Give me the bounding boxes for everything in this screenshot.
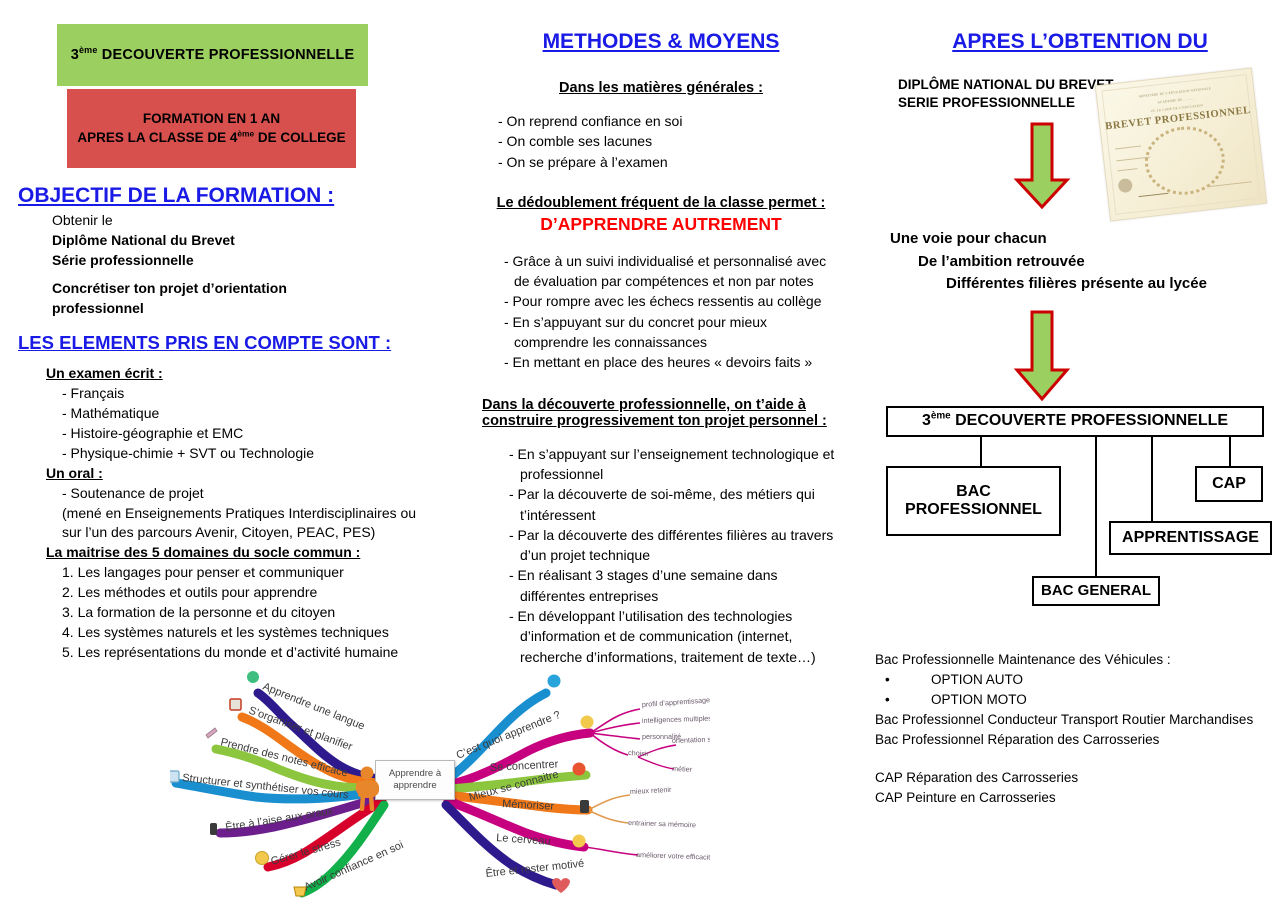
trophy-icon [294, 887, 306, 896]
notebook-icon [170, 771, 179, 782]
lightbulb-icon [573, 835, 586, 848]
mm-sub-profil [590, 709, 640, 733]
list-item-cont: de évaluation par compétences et non par… [494, 271, 846, 291]
heading-apprendre-autrement: D’APPRENDRE AUTREMENT [476, 214, 846, 235]
mm-sub-label: profil d’apprentissage [642, 695, 710, 709]
objectif-line-3: Série professionnelle [52, 251, 458, 271]
heart-icon [552, 878, 570, 893]
list-item: Bac Professionnel Conducteur Transport R… [875, 710, 1280, 730]
list-item: - En développant l’utilisation des techn… [498, 606, 846, 626]
banner-3eme-decouverte-professionnelle: 3ème DECOUVERTE PROFESSIONNELLE [57, 24, 368, 86]
objectif-line-1: Obtenir le [52, 211, 458, 231]
list-item: - En réalisant 3 stages d’une semaine da… [498, 565, 846, 585]
mm-sub-entrainer [588, 810, 628, 823]
bullet-label: OPTION MOTO [931, 692, 1027, 707]
org-node-bac-pro-label: BAC PROFESSIONNEL [905, 483, 1042, 519]
heading-methodes-moyens: METHODES & MOYENS [476, 30, 846, 54]
formations-list: Bac Professionnelle Maintenance des Véhi… [875, 650, 1280, 808]
org-node-bac-professionnel: BAC PROFESSIONNEL [886, 466, 1061, 536]
subheading-line-2: construire progressivement ton projet pe… [482, 413, 846, 429]
mm-sub-metier [638, 757, 674, 769]
list-item: - On reprend confiance en soi [498, 111, 846, 131]
battery-icon [580, 800, 589, 813]
list-item: 1. Les langages pour penser et communiqu… [62, 563, 458, 583]
list-item: - En s’appuyant sur l’enseignement techn… [498, 444, 846, 464]
list-item: CAP Peinture en Carrosseries [875, 788, 1280, 808]
list-item-bullet: •OPTION AUTO [875, 670, 1280, 690]
list-item: CAP Réparation des Carrosseries [875, 768, 1280, 788]
org-node-bac-general-label: BAC GENERAL [1041, 583, 1151, 600]
mindmap-center-node: Apprendre à apprendre [375, 760, 455, 800]
banner-formation-en-1-an: FORMATION EN 1 AN APRES LA CLASSE DE 4èm… [67, 89, 356, 168]
mindmap-center-text: Apprendre à apprendre [389, 768, 441, 792]
column-objectives: 3ème DECOUVERTE PROFESSIONNELLE FORMATIO… [18, 24, 458, 663]
column-methods: METHODES & MOYENS Dans les matières géné… [476, 30, 846, 667]
people-icon [581, 716, 594, 729]
heading-elements-pris-en-compte: LES ELEMENTS PRIS EN COMPTE SONT : [18, 332, 458, 354]
mindmap-apprendre-a-apprendre: Apprendre une langue S’organiser et plan… [170, 655, 710, 905]
org-node-3eme-decouverte: 3ème DECOUVERTE PROFESSIONNELLE [886, 406, 1264, 437]
list-item: - Physique-chimie + SVT ou Technologie [62, 444, 458, 464]
question-icon [548, 675, 561, 688]
subheading-dedoublement: Le dédoublement fréquent de la classe pe… [476, 195, 846, 211]
subheading-examen-ecrit: Un examen écrit : [46, 364, 458, 384]
objectif-line-2: Diplôme National du Brevet [52, 231, 458, 251]
mm-label: Gérer le stress [270, 836, 343, 868]
list-item: Bac Professionnel Réparation des Carross… [875, 730, 1280, 750]
subheading-line-1: Dans la découverte professionnelle, on t… [482, 397, 846, 413]
list-item: - Histoire-géographie et EMC [62, 424, 458, 444]
mm-sub-label: choisir [628, 748, 650, 758]
list-item: - Soutenance de projet [62, 484, 458, 504]
microphone-icon [210, 823, 217, 835]
down-arrow-2-icon [1013, 310, 1071, 402]
list-item: sur l’un des parcours Avenir, Citoyen, P… [62, 523, 458, 543]
down-arrow-1-icon [1013, 122, 1071, 210]
objectif-line-4: Concrétiser ton projet d’orientation [52, 279, 458, 299]
list-item: - Français [62, 384, 458, 404]
mm-sub-label: métier [672, 764, 693, 774]
column-after-diploma: APRES L’OBTENTION DU MINISTERE DE L'EDUC… [880, 30, 1280, 808]
mm-sub-label: entrainer sa mémoire [628, 818, 696, 829]
list-item: - On comble ses lacunes [498, 131, 846, 151]
org-connector [1151, 437, 1153, 521]
list-item: - En mettant en place des heures « devoi… [494, 352, 846, 372]
list-item-cont: t’intéressent [498, 505, 846, 525]
bullet-icon: • [885, 690, 931, 710]
heading-apres-obtention: APRES L’OBTENTION DU [880, 30, 1280, 54]
calendar-icon [230, 699, 241, 710]
list-item-cont: différentes entreprises [498, 586, 846, 606]
org-node-apprentissage: APPRENTISSAGE [1109, 521, 1272, 555]
list-item: 4. Les systèmes naturels et les systèmes… [62, 623, 458, 643]
mm-label: Mémoriser [502, 798, 555, 813]
list-item: - Mathématique [62, 404, 458, 424]
mm-sub-label: améliorer votre efficacité [636, 850, 710, 862]
org-node-root-label: 3ème DECOUVERTE PROFESSIONNELLE [922, 412, 1228, 430]
org-connector [1095, 437, 1097, 597]
list-item: - Par la découverte des différentes fili… [498, 525, 846, 545]
slogan-line-3: Différentes filières présente au lycée [946, 273, 1280, 296]
banner-green-text: 3ème DECOUVERTE PROFESSIONNELLE [71, 47, 355, 63]
mindmap-center-line-1: Apprendre à [389, 768, 441, 779]
mm-sub-label: orientation scolaire [672, 734, 710, 745]
orientation-org-chart: 3ème DECOUVERTE PROFESSIONNELLE BAC PROF… [880, 406, 1280, 606]
org-node-cap-label: CAP [1212, 475, 1246, 493]
spacer [18, 271, 458, 279]
list-matieres-generales: - On reprend confiance en soi - On combl… [498, 111, 846, 172]
globe-icon [247, 671, 259, 683]
list-item: - Grâce à un suivi individualisé et pers… [494, 251, 846, 271]
elements-block: Un examen écrit : - Français - Mathémati… [18, 364, 458, 662]
down-arrow-2-wrapper [1013, 310, 1280, 402]
list-apprendre-autrement: - Grâce à un suivi individualisé et pers… [494, 251, 846, 373]
subheading-un-oral: Un oral : [46, 464, 458, 484]
banner-red-line1: FORMATION EN 1 AN [143, 110, 280, 128]
list-item: (mené en Enseignements Pratiques Interdi… [62, 504, 458, 524]
exclamation-icon [573, 763, 586, 776]
mm-sub-label: intelligences multiples [642, 714, 710, 725]
org-node-apprentissage-label: APPRENTISSAGE [1122, 529, 1259, 547]
list-item: - En s’appuyant sur du concret pour mieu… [494, 312, 846, 332]
list-item-bullet: •OPTION MOTO [875, 690, 1280, 710]
mm-sub-label: mieux retenir [630, 785, 673, 796]
subheading-socle-commun: La maitrise des 5 domaines du socle comm… [46, 543, 458, 563]
bac-pro-line-1: BAC [956, 483, 991, 500]
list-item: Bac Professionnelle Maintenance des Véhi… [875, 650, 1280, 670]
org-connector [980, 437, 982, 466]
spacer [875, 750, 1280, 768]
slogan-line-1: Une voie pour chacun [890, 228, 1280, 251]
org-node-bac-general: BAC GENERAL [1032, 576, 1160, 606]
subheading-matieres-generales: Dans les matières générales : [476, 80, 846, 96]
list-item-cont: comprendre les connaissances [494, 332, 846, 352]
subheading-decouverte-professionnelle: Dans la découverte professionnelle, on t… [482, 397, 846, 429]
list-item-cont: d’information et de communication (inter… [498, 626, 846, 646]
list-item: 3. La formation de la personne et du cit… [62, 603, 458, 623]
pencil-icon [206, 728, 217, 738]
bac-pro-line-2: PROFESSIONNEL [905, 501, 1042, 518]
objectif-block: Obtenir le Diplôme National du Brevet Sé… [18, 211, 458, 318]
mm-label: Le cerveau [496, 832, 551, 848]
list-projet-personnel: - En s’appuyant sur l’enseignement techn… [498, 444, 846, 667]
mindmap-mascot-figure [355, 765, 379, 811]
list-item: - On se prépare à l’examen [498, 152, 846, 172]
smiley-icon [256, 852, 269, 865]
slogan-line-2: De l’ambition retrouvée [918, 251, 1280, 274]
down-arrow-1-wrapper [1013, 122, 1280, 210]
list-item-cont: d’un projet technique [498, 545, 846, 565]
mm-sub-mieux-retenir [588, 795, 630, 810]
banner-red-line2: APRES LA CLASSE DE 4ème DE COLLEGE [77, 129, 345, 147]
list-item: - Par la découverte de soi-même, des mét… [498, 484, 846, 504]
bullet-label: OPTION AUTO [931, 672, 1023, 687]
bullet-icon: • [885, 670, 931, 690]
mindmap-center-line-2: apprendre [393, 780, 436, 791]
objectif-line-5: professionnel [52, 299, 458, 319]
list-item: - Pour rompre avec les échecs ressentis … [494, 291, 846, 311]
heading-objectif-formation: OBJECTIF DE LA FORMATION : [18, 184, 458, 208]
org-node-cap: CAP [1195, 466, 1263, 502]
list-item: 2. Les méthodes et outils pour apprendre [62, 583, 458, 603]
mm-sub-ameliorer [584, 847, 638, 855]
slogan-block: Une voie pour chacun De l’ambition retro… [890, 228, 1280, 296]
org-connector [1229, 437, 1231, 466]
list-item-cont: professionnel [498, 464, 846, 484]
